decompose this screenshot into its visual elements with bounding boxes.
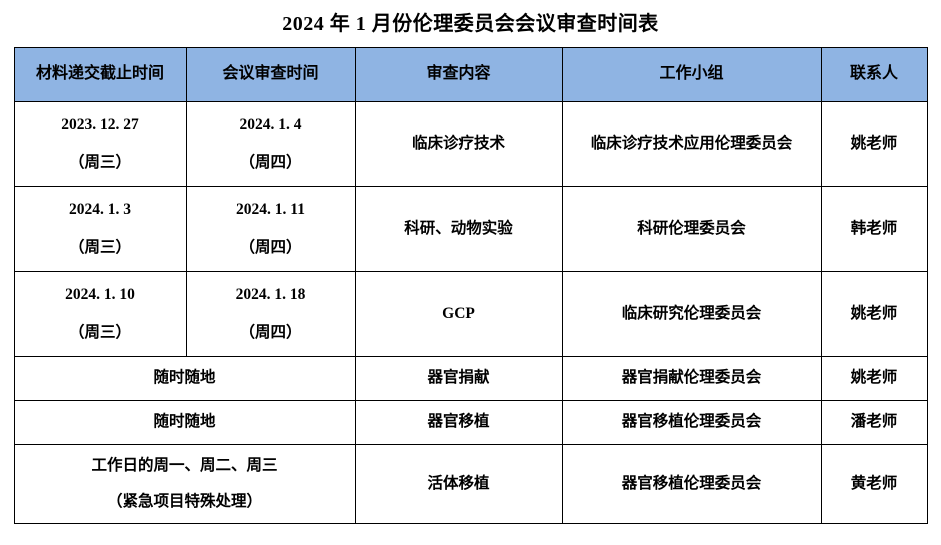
cell-review-content: 器官移植 [355, 401, 562, 445]
meeting-date: 2024. 1. 11 [236, 202, 305, 218]
meeting-date: 2024. 1. 18 [236, 287, 306, 303]
cell-submission-deadline: 2024. 1. 10 （周三） [14, 272, 186, 357]
cell-contact-person: 姚老师 [821, 357, 927, 401]
table-row: 2024. 1. 10 （周三） 2024. 1. 18 （周四） GCP 临床… [14, 272, 927, 357]
column-header-review-content: 审查内容 [355, 48, 562, 102]
cell-working-group: 临床研究伦理委员会 [562, 272, 821, 357]
column-header-submission-deadline: 材料递交截止时间 [14, 48, 186, 102]
deadline-date: 2023. 12. 27 [61, 117, 139, 133]
meeting-weekday: （周四） [239, 155, 301, 171]
cell-working-group: 器官移植伦理委员会 [562, 445, 821, 524]
deadline-date: 2024. 1. 10 [65, 287, 135, 303]
cell-review-content: 临床诊疗技术 [355, 102, 562, 187]
deadline-stack: 2024. 1. 10 （周三） [19, 287, 182, 342]
meeting-stack: 2024. 1. 4 （周四） [191, 117, 351, 172]
cell-merged-time: 工作日的周一、周二、周三 （紧急项目特殊处理） [14, 445, 355, 524]
meeting-date: 2024. 1. 4 [240, 117, 302, 133]
cell-contact-person: 潘老师 [821, 401, 927, 445]
cell-review-content: 科研、动物实验 [355, 187, 562, 272]
cell-contact-person: 韩老师 [821, 187, 927, 272]
merged-time-stack: 工作日的周一、周二、周三 （紧急项目特殊处理） [19, 458, 351, 511]
merged-time-line-2: （紧急项目特殊处理） [107, 494, 262, 510]
column-header-contact-person: 联系人 [821, 48, 927, 102]
meeting-weekday: （周四） [239, 325, 301, 341]
cell-review-content: 活体移植 [355, 445, 562, 524]
column-header-working-group: 工作小组 [562, 48, 821, 102]
cell-submission-deadline: 2023. 12. 27 （周三） [14, 102, 186, 187]
column-header-review-meeting-time: 会议审查时间 [186, 48, 355, 102]
meeting-stack: 2024. 1. 18 （周四） [191, 287, 351, 342]
page-root: 2024 年 1 月份伦理委员会会议审查时间表 材料递交截止时间 会议审查时间 … [0, 0, 941, 545]
cell-working-group: 科研伦理委员会 [562, 187, 821, 272]
cell-review-meeting-time: 2024. 1. 11 （周四） [186, 187, 355, 272]
table-body: 2023. 12. 27 （周三） 2024. 1. 4 （周四） 临床诊疗技术… [14, 102, 927, 524]
deadline-date: 2024. 1. 3 [69, 202, 131, 218]
page-title: 2024 年 1 月份伦理委员会会议审查时间表 [0, 0, 941, 47]
cell-submission-deadline: 2024. 1. 3 （周三） [14, 187, 186, 272]
deadline-weekday: （周三） [69, 325, 131, 341]
meeting-stack: 2024. 1. 11 （周四） [191, 202, 351, 257]
table-row: 随时随地 器官移植 器官移植伦理委员会 潘老师 [14, 401, 927, 445]
cell-merged-time: 随时随地 [14, 401, 355, 445]
deadline-weekday: （周三） [69, 240, 131, 256]
cell-contact-person: 黄老师 [821, 445, 927, 524]
meeting-weekday: （周四） [239, 240, 301, 256]
merged-time-line-1: 工作日的周一、周二、周三 [91, 458, 277, 474]
table-header: 材料递交截止时间 会议审查时间 审查内容 工作小组 联系人 [14, 48, 927, 102]
table-row: 2024. 1. 3 （周三） 2024. 1. 11 （周四） 科研、动物实验… [14, 187, 927, 272]
cell-review-content: 器官捐献 [355, 357, 562, 401]
cell-review-content: GCP [355, 272, 562, 357]
deadline-stack: 2024. 1. 3 （周三） [19, 202, 182, 257]
deadline-weekday: （周三） [69, 155, 131, 171]
deadline-stack: 2023. 12. 27 （周三） [19, 117, 182, 172]
cell-review-meeting-time: 2024. 1. 18 （周四） [186, 272, 355, 357]
cell-contact-person: 姚老师 [821, 272, 927, 357]
cell-review-meeting-time: 2024. 1. 4 （周四） [186, 102, 355, 187]
ethics-review-schedule-table: 材料递交截止时间 会议审查时间 审查内容 工作小组 联系人 2023. 12. … [14, 47, 928, 524]
table-header-row: 材料递交截止时间 会议审查时间 审查内容 工作小组 联系人 [14, 48, 927, 102]
cell-contact-person: 姚老师 [821, 102, 927, 187]
cell-working-group: 器官捐献伦理委员会 [562, 357, 821, 401]
table-row: 工作日的周一、周二、周三 （紧急项目特殊处理） 活体移植 器官移植伦理委员会 黄… [14, 445, 927, 524]
table-row: 随时随地 器官捐献 器官捐献伦理委员会 姚老师 [14, 357, 927, 401]
table-row: 2023. 12. 27 （周三） 2024. 1. 4 （周四） 临床诊疗技术… [14, 102, 927, 187]
cell-working-group: 器官移植伦理委员会 [562, 401, 821, 445]
cell-working-group: 临床诊疗技术应用伦理委员会 [562, 102, 821, 187]
cell-merged-time: 随时随地 [14, 357, 355, 401]
